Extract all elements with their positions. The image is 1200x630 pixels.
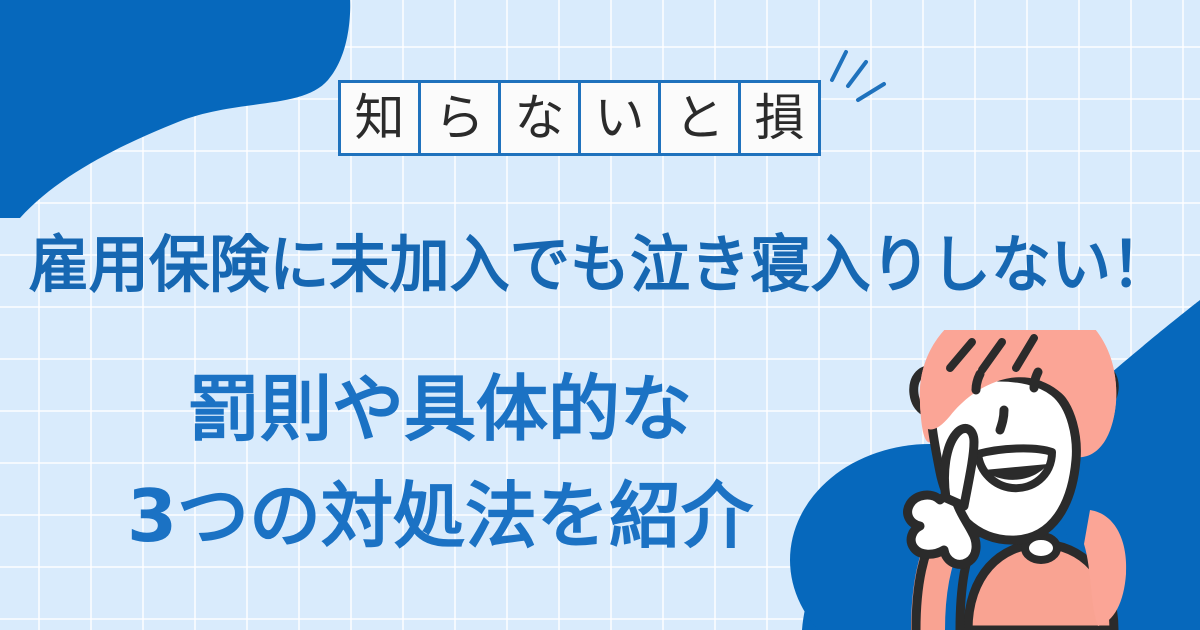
badge-cell-5: と <box>658 80 741 156</box>
thumbnail-canvas: 知 ら な い と 損 雇用保険に未加入でも泣き寝入りしない！ 罰則や具体的な … <box>0 0 1200 630</box>
subtitle-block: 罰則や具体的な 3つの対処法を紹介 <box>0 356 880 569</box>
subtitle-line-1: 罰則や具体的な <box>0 356 880 463</box>
badge-cell-3: な <box>498 80 581 156</box>
badge-cell-6: 損 <box>738 80 821 156</box>
badge-shiranai-to-son: 知 ら な い と 損 <box>338 80 821 156</box>
badge-cell-1: 知 <box>338 80 421 156</box>
page-title: 雇用保険に未加入でも泣き寝入りしない！ <box>18 232 1182 299</box>
subtitle-line-2: 3つの対処法を紹介 <box>0 463 880 570</box>
badge-cell-4: い <box>578 80 661 156</box>
badge-cell-2: ら <box>418 80 501 156</box>
